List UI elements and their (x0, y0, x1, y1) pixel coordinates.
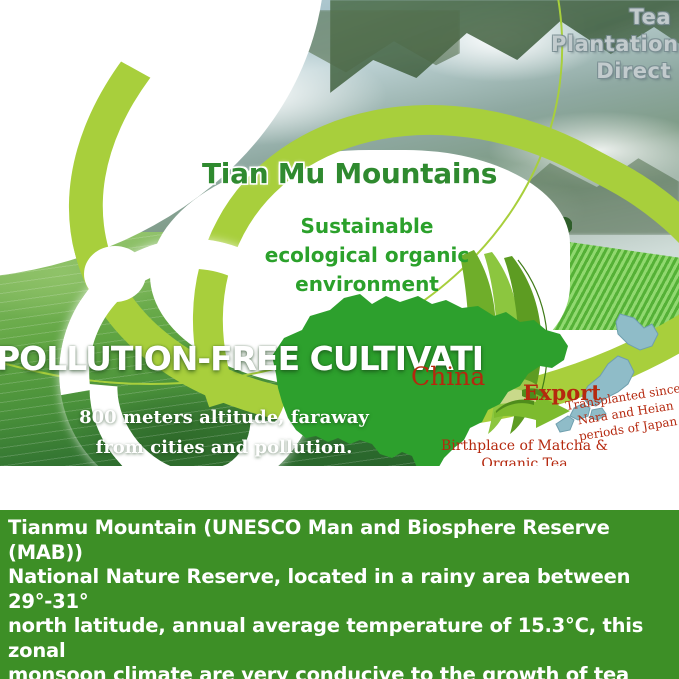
white-spiral-cap (84, 246, 146, 302)
description-line-2: National Nature Reserve, located in a ra… (8, 565, 671, 614)
brand-logo-line1: Tea (551, 4, 671, 31)
brand-logo-line3: Direct (551, 58, 671, 85)
china-label: China (411, 362, 485, 391)
description-line-3: north latitude, annual average temperatu… (8, 614, 671, 663)
description-band: Tianmu Mountain (UNESCO Man and Biospher… (0, 510, 679, 679)
altitude-subtext: 800 meters altitude, faraway from cities… (74, 403, 374, 463)
brand-logo-line2: Plantation (551, 31, 671, 58)
brand-logo: Tea Plantation Direct (551, 4, 671, 85)
eco-subtitle: Sustainable ecological organic environme… (252, 212, 482, 299)
page-title: Tian Mu Mountains (202, 157, 497, 190)
poster-root: Tea Plantation Direct Tian Mu Mountains … (0, 0, 679, 679)
description-line-1: Tianmu Mountain (UNESCO Man and Biospher… (8, 516, 671, 565)
white-separator-strip (0, 466, 679, 510)
description-line-4: monsoon climate are very conducive to th… (8, 663, 671, 679)
